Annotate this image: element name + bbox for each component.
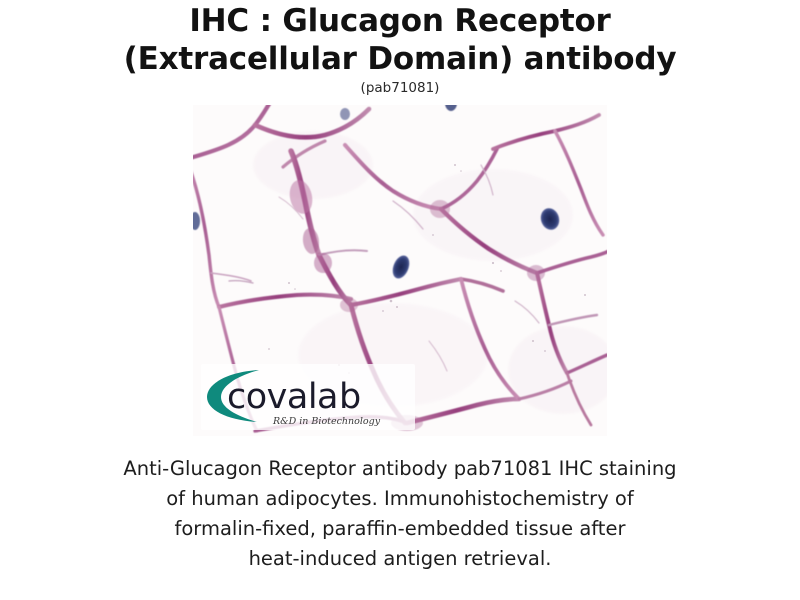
svg-text:covala: covala	[227, 377, 338, 417]
caption-line-3: formalin-fixed, paraffin-embedded tissue…	[80, 514, 720, 544]
svg-text:b: b	[339, 377, 361, 417]
title-block: IHC : Glucagon Receptor (Extracellular D…	[0, 0, 800, 97]
product-image-page: IHC : Glucagon Receptor (Extracellular D…	[0, 0, 800, 600]
page-title-line-2: (Extracellular Domain) antibody	[0, 40, 800, 78]
svg-text:R&D in Biotechnology: R&D in Biotechnology	[272, 416, 381, 427]
caption-line-2: of human adipocytes. Immunohistochemistr…	[80, 484, 720, 514]
page-title-line-1: IHC : Glucagon Receptor	[0, 2, 800, 40]
covalab-logo-watermark: covala b R&D in Biotechnology	[201, 364, 415, 430]
caption-line-1: Anti-Glucagon Receptor antibody pab71081…	[80, 454, 720, 484]
micrograph-figure: covala b R&D in Biotechnology	[193, 105, 607, 436]
caption-line-4: heat-induced antigen retrieval.	[80, 544, 720, 574]
catalog-number: (pab71081)	[0, 79, 800, 97]
figure-caption: Anti-Glucagon Receptor antibody pab71081…	[80, 454, 720, 574]
